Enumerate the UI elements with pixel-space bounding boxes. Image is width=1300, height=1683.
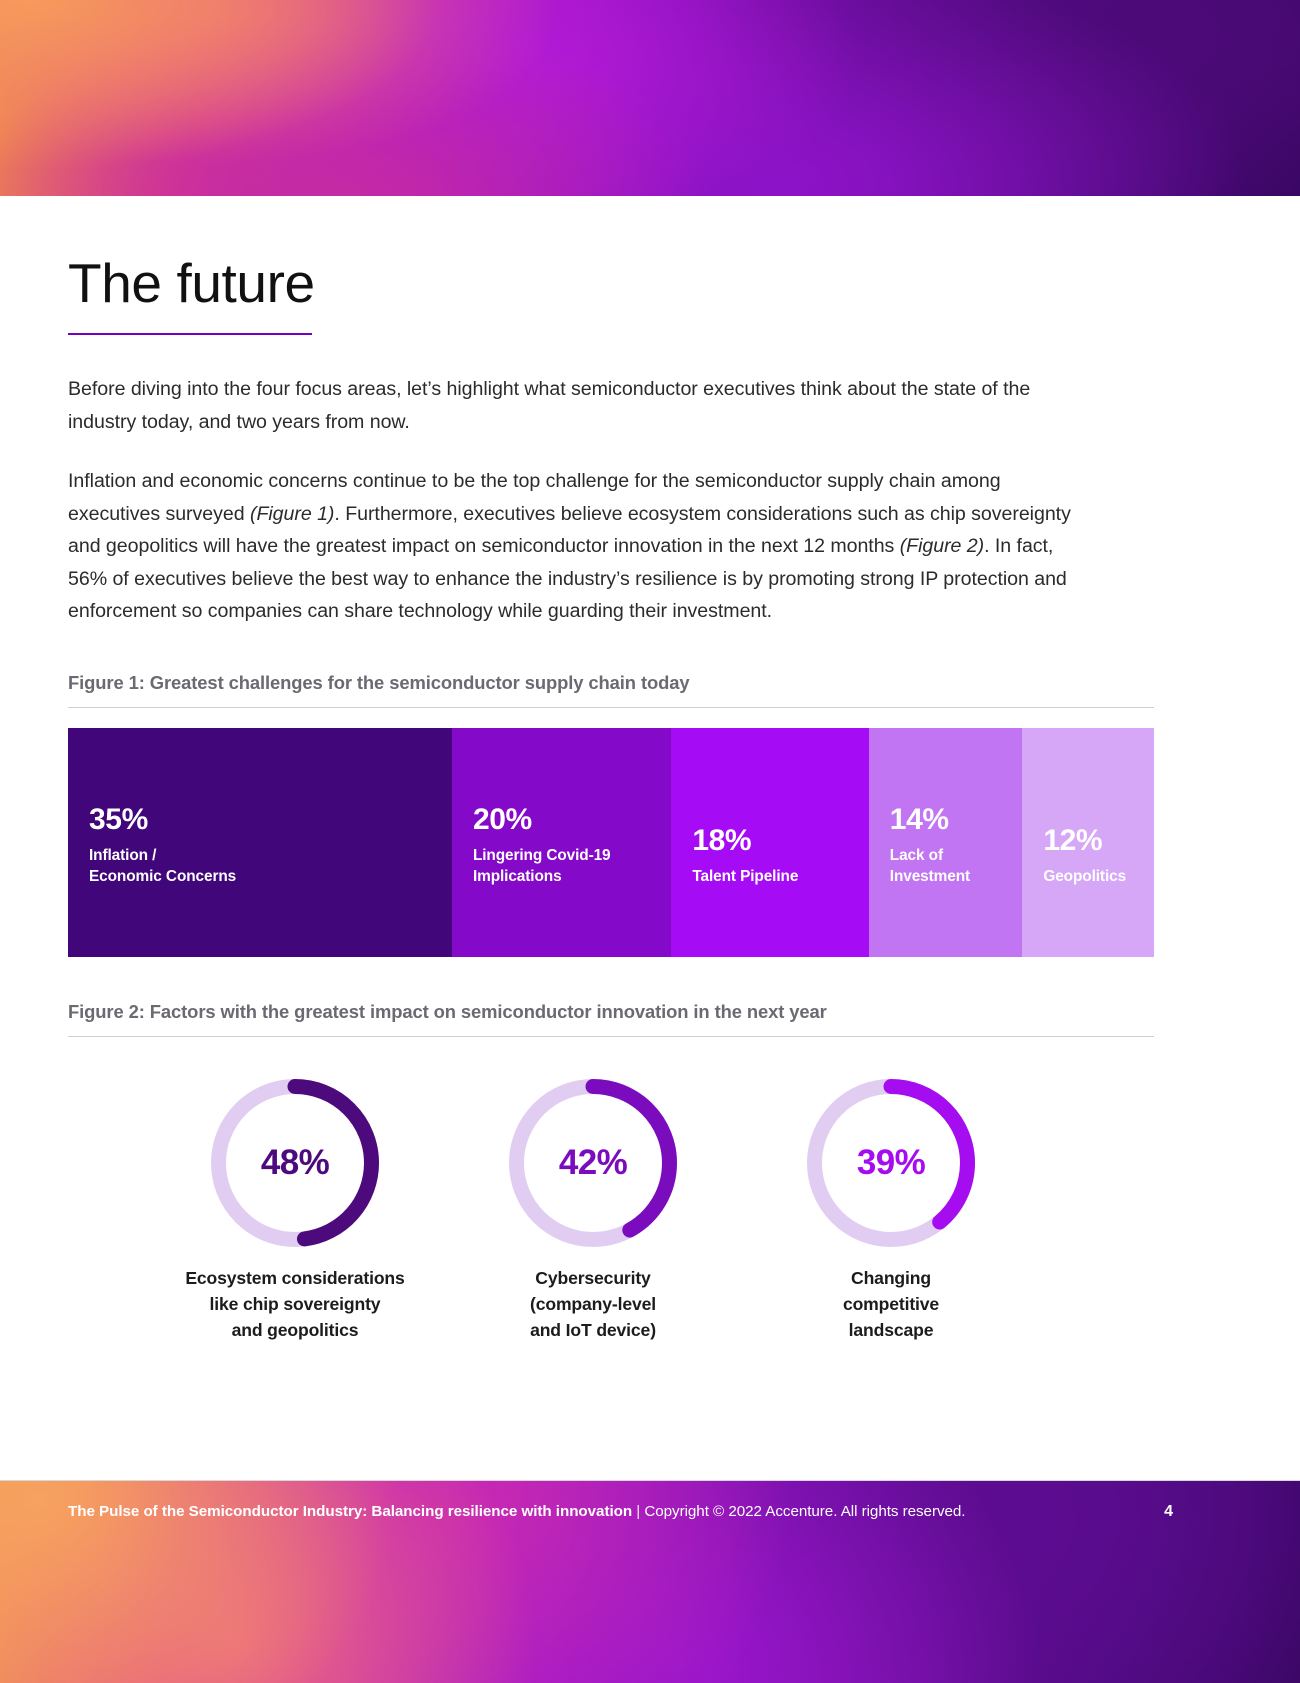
bar-segment: 35%Inflation / Economic Concerns	[68, 728, 452, 957]
footer-credit-line: The Pulse of the Semiconductor Industry:…	[68, 1503, 965, 1520]
figure2-donut-group: 48%Ecosystem considerations like chip so…	[68, 1079, 1154, 1343]
bar-segment-value: 18%	[692, 826, 868, 856]
figure1-stacked-bar-chart: 35%Inflation / Economic Concerns20%Linge…	[68, 728, 1154, 957]
footer-separator: |	[632, 1503, 644, 1520]
donut-chart: 48%	[211, 1079, 379, 1247]
bar-segment-label: Lack of Investment	[890, 845, 1023, 888]
figure-reference: (Figure 1)	[250, 503, 334, 525]
page-title: The future	[68, 256, 1300, 311]
donut-cell: 42%Cybersecurity (company-level and IoT …	[444, 1079, 742, 1343]
bar-segment-value: 12%	[1043, 826, 1154, 856]
bar-segment-label: Talent Pipeline	[692, 866, 868, 888]
figure-reference: (Figure 2)	[900, 535, 984, 557]
text-run: Before diving into the four focus areas,…	[68, 378, 1030, 433]
page-footer: The Pulse of the Semiconductor Industry:…	[0, 1481, 1300, 1683]
donut-chart: 42%	[509, 1079, 677, 1247]
figure2-caption: Figure 2: Factors with the greatest impa…	[68, 1001, 1154, 1037]
page-content: The future Before diving into the four f…	[0, 196, 1300, 1343]
bar-segment: 12%Geopolitics	[1022, 728, 1154, 957]
figure1-caption: Figure 1: Greatest challenges for the se…	[68, 672, 1154, 708]
donut-value: 39%	[807, 1079, 975, 1247]
bar-segment-value: 14%	[890, 805, 1023, 835]
findings-paragraph: Inflation and economic concerns continue…	[68, 465, 1073, 628]
donut-label: Ecosystem considerations like chip sover…	[185, 1265, 404, 1343]
donut-label: Changing competitive landscape	[843, 1265, 939, 1343]
top-gradient-banner	[0, 0, 1300, 196]
bar-segment-value: 35%	[89, 805, 452, 835]
donut-cell: 39%Changing competitive landscape	[742, 1079, 1040, 1343]
bar-segment-label: Inflation / Economic Concerns	[89, 845, 452, 888]
footer-report-title: The Pulse of the Semiconductor Industry:…	[68, 1503, 632, 1520]
donut-value: 48%	[211, 1079, 379, 1247]
donut-cell: 48%Ecosystem considerations like chip so…	[146, 1079, 444, 1343]
bar-segment-label: Geopolitics	[1043, 866, 1154, 888]
bar-segment: 18%Talent Pipeline	[671, 728, 868, 957]
bar-segment-value: 20%	[473, 805, 671, 835]
footer-copyright: Copyright © 2022 Accenture. All rights r…	[644, 1503, 965, 1520]
footer-inner: The Pulse of the Semiconductor Industry:…	[68, 1503, 1238, 1521]
bar-segment: 14%Lack of Investment	[869, 728, 1023, 957]
bar-segment: 20%Lingering Covid-19 Implications	[452, 728, 671, 957]
donut-chart: 39%	[807, 1079, 975, 1247]
donut-label: Cybersecurity (company-level and IoT dev…	[530, 1265, 656, 1343]
footer-page-number: 4	[1164, 1503, 1173, 1521]
title-underline-rule	[68, 333, 312, 335]
donut-value: 42%	[509, 1079, 677, 1247]
intro-paragraph: Before diving into the four focus areas,…	[68, 373, 1073, 438]
bar-segment-label: Lingering Covid-19 Implications	[473, 845, 671, 888]
